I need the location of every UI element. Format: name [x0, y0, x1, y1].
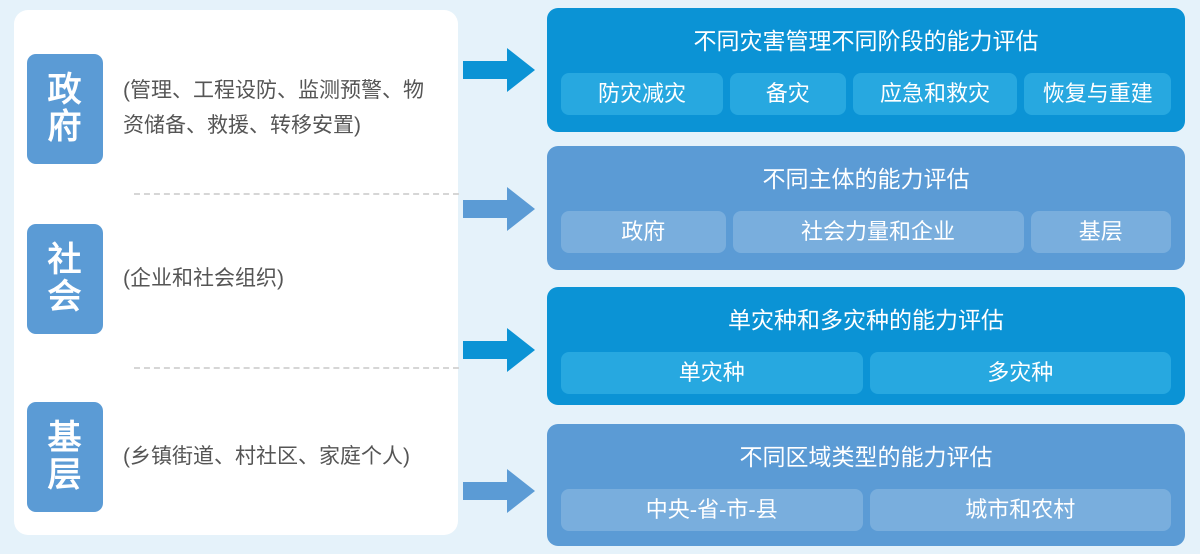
actor-row-grassroots: 基 层 (乡镇街道、村社区、家庭个人)	[14, 382, 458, 532]
panel-title: 不同区域类型的能力评估	[547, 424, 1185, 469]
panel-chip-row: 单灾种 多灾种	[547, 352, 1185, 394]
chip-item[interactable]: 恢复与重建	[1024, 73, 1171, 115]
assessment-panel-actors: 不同主体的能力评估 政府 社会力量和企业 基层	[547, 146, 1185, 270]
panel-title: 不同主体的能力评估	[547, 146, 1185, 191]
actor-label-char-1: 政	[48, 72, 83, 109]
actor-description-society: (企业和社会组织)	[123, 262, 284, 296]
actor-label-char-1: 社	[48, 242, 83, 279]
right-arrow-icon	[463, 328, 535, 372]
panel-chip-row: 防灾减灾 备灾 应急和救灾 恢复与重建	[547, 73, 1185, 115]
panel-title: 单灾种和多灾种的能力评估	[547, 287, 1185, 332]
chip-item[interactable]: 社会力量和企业	[733, 211, 1024, 253]
chip-item[interactable]: 备灾	[730, 73, 846, 115]
panel-chip-row: 政府 社会力量和企业 基层	[547, 211, 1185, 253]
assessment-panel-hazard-types: 单灾种和多灾种的能力评估 单灾种 多灾种	[547, 287, 1185, 405]
actor-label-tile-society: 社 会	[27, 224, 103, 334]
actor-divider-1	[134, 193, 459, 195]
assessment-panel-disaster-phases: 不同灾害管理不同阶段的能力评估 防灾减灾 备灾 应急和救灾 恢复与重建	[547, 8, 1185, 132]
actor-row-government: 政 府 (管理、工程设防、监测预警、物资储备、救援、转移安置)	[14, 31, 458, 186]
chip-item[interactable]: 政府	[561, 211, 726, 253]
chip-item[interactable]: 应急和救灾	[853, 73, 1018, 115]
actor-description-government: (管理、工程设防、监测预警、物资储备、救援、转移安置)	[123, 74, 443, 142]
right-arrow-icon	[463, 469, 535, 513]
actor-label-char-2: 府	[48, 109, 83, 146]
chip-item[interactable]: 基层	[1031, 211, 1171, 253]
chip-item[interactable]: 城市和农村	[870, 489, 1172, 531]
panel-title: 不同灾害管理不同阶段的能力评估	[547, 8, 1185, 53]
actor-label-tile-government: 政 府	[27, 54, 103, 164]
actors-card: 政 府 (管理、工程设防、监测预警、物资储备、救援、转移安置) 社 会 (企业和…	[14, 10, 458, 535]
right-arrow-icon	[463, 48, 535, 92]
actor-description-grassroots: (乡镇街道、村社区、家庭个人)	[123, 440, 410, 474]
chip-item[interactable]: 多灾种	[870, 352, 1172, 394]
actor-label-char-2: 层	[48, 457, 83, 494]
panel-chip-row: 中央-省-市-县 城市和农村	[547, 489, 1185, 531]
chip-item[interactable]: 中央-省-市-县	[561, 489, 863, 531]
actor-label-char-1: 基	[48, 420, 83, 457]
assessment-panel-region-types: 不同区域类型的能力评估 中央-省-市-县 城市和农村	[547, 424, 1185, 546]
chip-item[interactable]: 单灾种	[561, 352, 863, 394]
chip-item[interactable]: 防灾减灾	[561, 73, 723, 115]
actor-label-tile-grassroots: 基 层	[27, 402, 103, 512]
right-arrow-icon	[463, 187, 535, 231]
actor-divider-2	[134, 367, 459, 369]
actor-row-society: 社 会 (企业和社会组织)	[14, 200, 458, 358]
actor-label-char-2: 会	[48, 279, 83, 316]
diagram-root: 政 府 (管理、工程设防、监测预警、物资储备、救援、转移安置) 社 会 (企业和…	[0, 0, 1200, 554]
